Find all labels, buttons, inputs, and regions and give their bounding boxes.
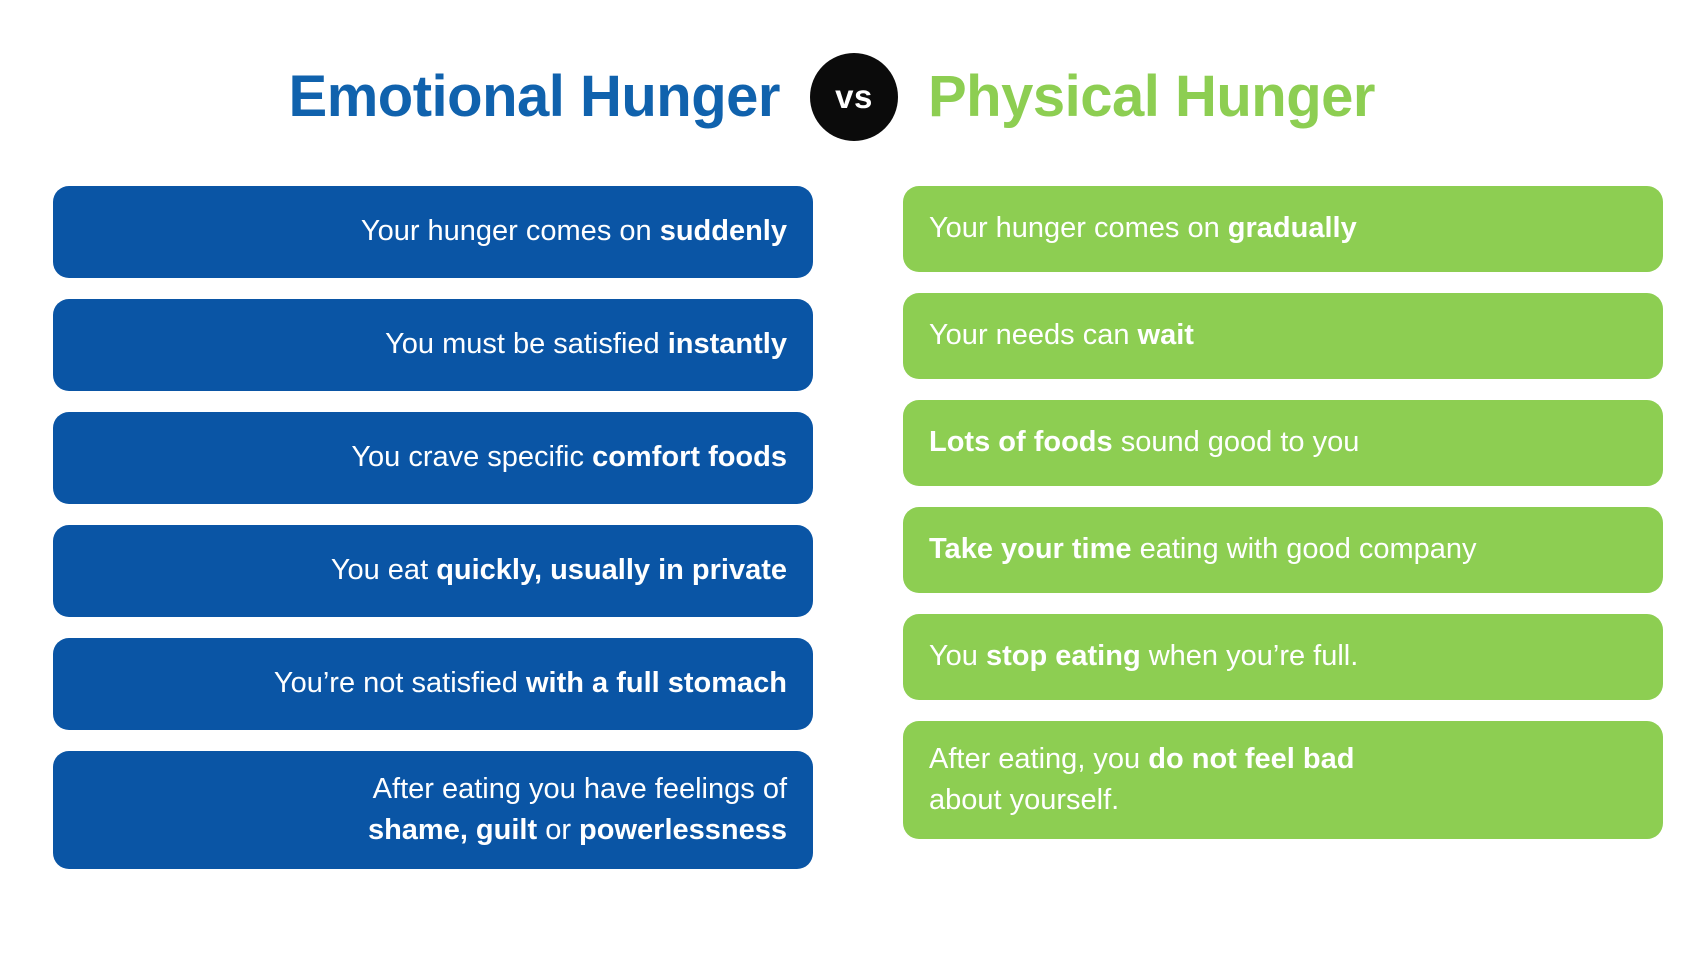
emotional-row-3-text: You crave specific comfort foods (351, 437, 787, 478)
infographic-page: Emotional Hunger vs Physical Hunger Your… (0, 0, 1708, 960)
physical-row-1: Your hunger comes on gradually (903, 186, 1663, 272)
physical-row-5-text: You stop eating when you’re full. (929, 636, 1358, 677)
comparison-columns: Your hunger comes on suddenly You must b… (0, 186, 1708, 869)
physical-row-6: After eating, you do not feel badabout y… (903, 721, 1663, 839)
physical-row-1-text: Your hunger comes on gradually (929, 208, 1357, 249)
emotional-row-1-text: Your hunger comes on suddenly (361, 211, 787, 252)
emotional-row-6-text: After eating you have feelings ofshame, … (368, 769, 787, 851)
column-physical-hunger: Your hunger comes on gradually Your need… (903, 186, 1663, 869)
physical-row-4: Take your time eating with good company (903, 507, 1663, 593)
emotional-row-3: You crave specific comfort foods (53, 412, 813, 504)
header: Emotional Hunger vs Physical Hunger (0, 42, 1708, 152)
physical-row-3: Lots of foods sound good to you (903, 400, 1663, 486)
page-title-physical: Physical Hunger (898, 68, 1478, 126)
emotional-row-2-text: You must be satisfied instantly (385, 324, 787, 365)
physical-row-2-text: Your needs can wait (929, 315, 1194, 356)
emotional-row-1: Your hunger comes on suddenly (53, 186, 813, 278)
physical-row-4-text: Take your time eating with good company (929, 529, 1477, 570)
emotional-row-4-text: You eat quickly, usually in private (331, 550, 787, 591)
physical-row-2: Your needs can wait (903, 293, 1663, 379)
emotional-row-6: After eating you have feelings ofshame, … (53, 751, 813, 869)
physical-row-6-text: After eating, you do not feel badabout y… (929, 739, 1354, 821)
column-emotional-hunger: Your hunger comes on suddenly You must b… (53, 186, 813, 869)
page-title-emotional: Emotional Hunger (230, 68, 810, 126)
emotional-row-2: You must be satisfied instantly (53, 299, 813, 391)
emotional-row-4: You eat quickly, usually in private (53, 525, 813, 617)
emotional-row-5: You’re not satisfied with a full stomach (53, 638, 813, 730)
vs-badge: vs (810, 53, 898, 141)
physical-row-5: You stop eating when you’re full. (903, 614, 1663, 700)
vs-label: vs (835, 78, 873, 116)
emotional-row-5-text: You’re not satisfied with a full stomach (274, 663, 787, 704)
physical-row-3-text: Lots of foods sound good to you (929, 422, 1359, 463)
